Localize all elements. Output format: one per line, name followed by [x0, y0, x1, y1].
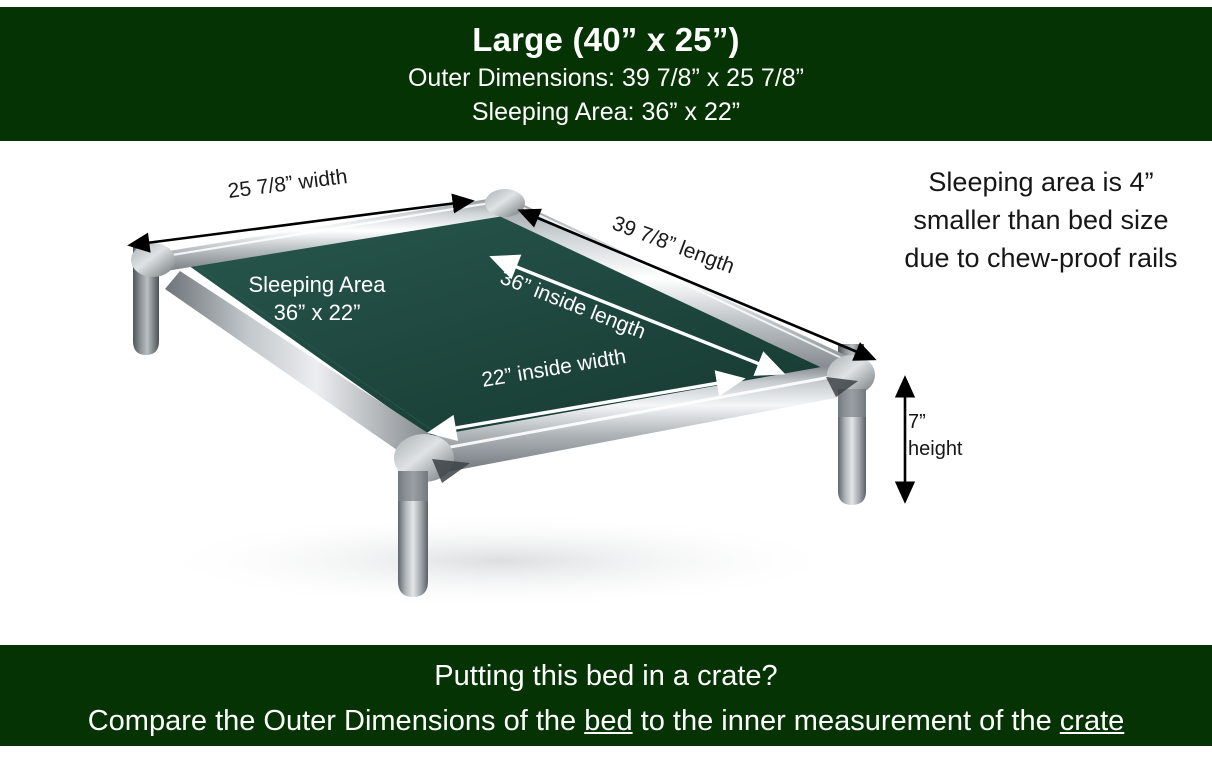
- footer-text-part-2: to the inner measurement of the: [633, 705, 1060, 737]
- label-height: 7” height: [908, 409, 994, 463]
- side-note-line-1: Sleeping area is 4”: [880, 163, 1202, 201]
- product-dimension-infographic: Large (40” x 25”) Outer Dimensions: 39 7…: [0, 0, 1212, 758]
- bed-leg-front-right: [838, 389, 866, 505]
- bed-corner-back-right: [485, 189, 525, 217]
- header-sleeping-area: Sleeping Area: 36” x 22”: [0, 95, 1212, 129]
- height-value: 7”: [908, 409, 994, 436]
- header-outer-dimensions: Outer Dimensions: 39 7/8” x 25 7/8”: [0, 61, 1212, 95]
- footer-word-crate: crate: [1060, 705, 1124, 737]
- diagram-stage: 25 7/8” width 39 7/8” length 36” inside …: [0, 141, 1212, 645]
- bed-corner-back-left: [131, 243, 175, 277]
- sleeping-area-dims: 36” x 22”: [232, 299, 402, 327]
- footer-word-bed: bed: [584, 705, 632, 737]
- sleeping-area-title: Sleeping Area: [232, 271, 402, 299]
- footer-question: Putting this bed in a crate?: [0, 653, 1212, 699]
- header-banner: Large (40” x 25”) Outer Dimensions: 39 7…: [0, 7, 1212, 141]
- height-label: height: [908, 436, 994, 463]
- side-note: Sleeping area is 4” smaller than bed siz…: [880, 163, 1202, 277]
- page-title: Large (40” x 25”): [0, 19, 1212, 61]
- side-note-line-2: smaller than bed size: [880, 201, 1202, 239]
- footer-text-part-1: Compare the Outer Dimensions of the: [88, 705, 584, 737]
- label-sleeping-area: Sleeping Area 36” x 22”: [232, 271, 402, 327]
- footer-instruction: Compare the Outer Dimensions of the bed …: [0, 699, 1212, 743]
- bed-leg-front-left: [398, 471, 428, 597]
- side-note-line-3: due to chew-proof rails: [880, 239, 1202, 277]
- footer-banner: Putting this bed in a crate? Compare the…: [0, 645, 1212, 746]
- bed-leg-bracket-left: [432, 459, 470, 483]
